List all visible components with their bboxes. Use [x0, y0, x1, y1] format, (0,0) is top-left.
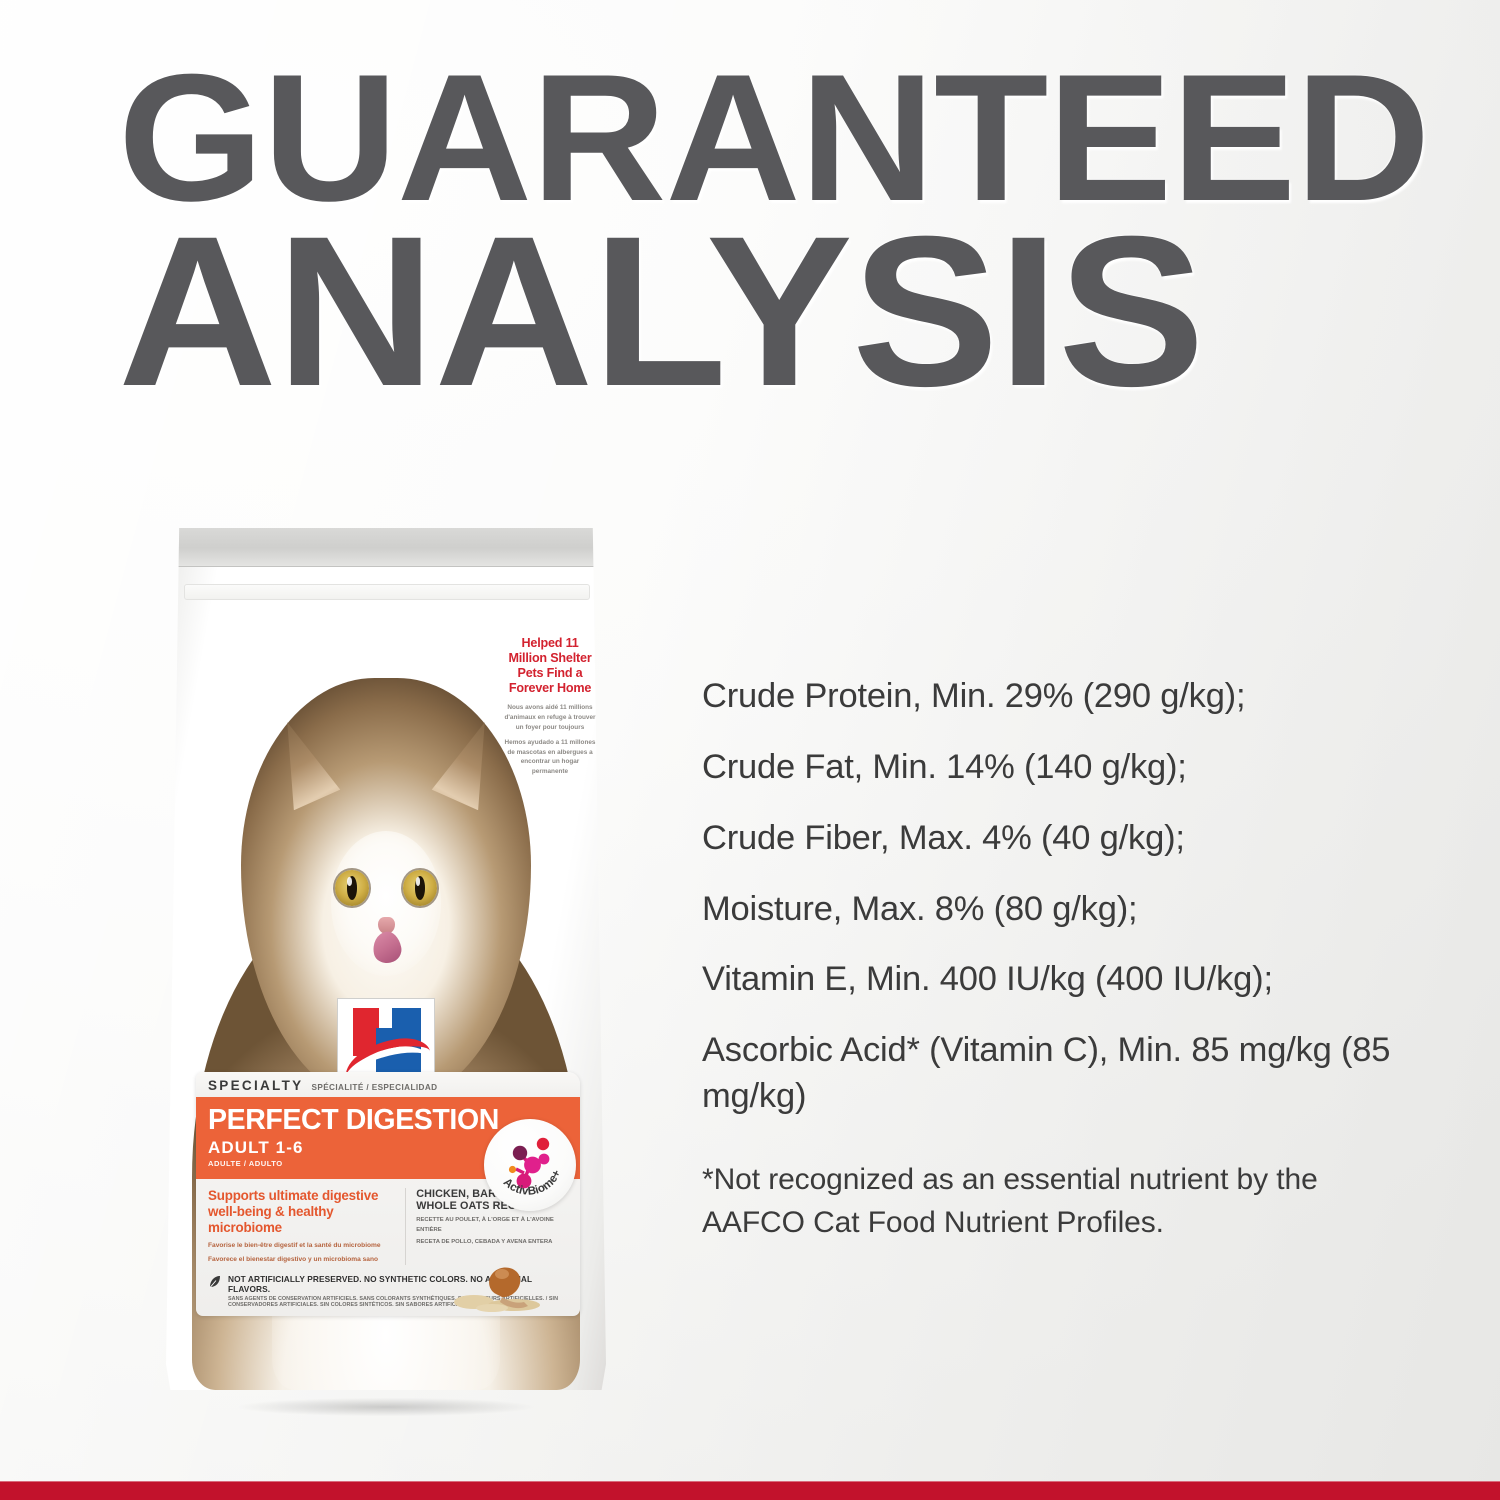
guaranteed-analysis-list: Crude Protein, Min. 29% (290 g/kg); Crud… [702, 674, 1402, 1146]
package-info-panel: SPECIALTY SPÉCIALITÉ / ESPECIALIDAD PERF… [196, 1072, 580, 1316]
no-preservatives-translations: SANS AGENTS DE CONSERVATION ARTIFICIELS.… [228, 1296, 568, 1308]
benefit-english: Supports ultimate digestive well-being &… [208, 1188, 395, 1237]
cat-eye-left [335, 870, 368, 906]
no-preservatives-text: NOT ARTIFICIALLY PRESERVED. NO SYNTHETIC… [228, 1274, 568, 1308]
specialty-label: SPECIALTY [208, 1078, 303, 1093]
leaf-icon [208, 1275, 222, 1289]
cat-pupil-right [415, 876, 426, 901]
nutrient-row-crude-protein: Crude Protein, Min. 29% (290 g/kg); [702, 674, 1402, 719]
product-info-panel: GUARANTEED ANALYSIS Crude Protein, Min. … [0, 0, 1500, 1500]
shelter-callout-spanish: Hemos ayudado a 11 millones de mascotas … [504, 738, 596, 776]
no-preservatives-row: NOT ARTIFICIALLY PRESERVED. NO SYNTHETIC… [196, 1269, 580, 1316]
benefit-claim: Supports ultimate digestive well-being &… [208, 1188, 395, 1265]
shelter-callout-headline: Helped 11 Million Shelter Pets Find a Fo… [508, 636, 591, 695]
page-title-line-2: ANALYSIS [118, 222, 1457, 402]
cat-eye-right [403, 870, 436, 906]
product-name-band: PERFECT DIGESTION ADULT 1-6 ADULTE / ADU… [196, 1097, 580, 1179]
cat-ear-left [287, 717, 342, 811]
nutrient-row-ascorbic-acid: Ascorbic Acid* (Vitamin C), Min. 85 mg/k… [702, 1028, 1402, 1120]
page-title: GUARANTEED ANALYSIS [118, 62, 1418, 402]
shelter-pets-callout: Helped 11 Million Shelter Pets Find a Fo… [504, 636, 596, 777]
recipe-french: RECETTE AU POULET, À L'ORGE ET À L'AVOIN… [416, 1216, 568, 1235]
claims-divider [405, 1188, 406, 1265]
shelter-callout-french: Nous avons aidé 11 millions d'animaux en… [504, 703, 596, 732]
recipe-spanish: RECETA DE POLLO, CEBADA Y AVENA ENTERA [416, 1238, 568, 1247]
activbiome-molecule-icon: ActivBiome+ [484, 1119, 576, 1211]
nutrient-row-moisture: Moisture, Max. 8% (80 g/kg); [702, 887, 1402, 932]
benefit-spanish: Favorece el bienestar digestivo y un mic… [208, 1255, 395, 1265]
activbiome-badge: ActivBiome+ [484, 1119, 576, 1211]
product-package: Helped 11 Million Shelter Pets Find a Fo… [150, 528, 622, 1416]
specialty-tab: SPECIALTY SPÉCIALITÉ / ESPECIALIDAD [196, 1072, 580, 1097]
cat-ear-right [430, 717, 485, 811]
specialty-translations: SPÉCIALITÉ / ESPECIALIDAD [311, 1083, 437, 1092]
no-preservatives-english: NOT ARTIFICIALLY PRESERVED. NO SYNTHETIC… [228, 1274, 568, 1294]
aafco-footnote: *Not recognized as an essential nutrient… [702, 1158, 1382, 1244]
footer-accent-bar [0, 1481, 1500, 1500]
package-bag: Helped 11 Million Shelter Pets Find a Fo… [166, 528, 606, 1390]
cat-pupil-left [347, 876, 358, 901]
nutrient-row-crude-fat: Crude Fat, Min. 14% (140 g/kg); [702, 745, 1402, 790]
package-shadow [178, 1394, 594, 1420]
nutrient-row-vitamin-e: Vitamin E, Min. 400 IU/kg (400 IU/kg); [702, 957, 1402, 1002]
bag-zip-strip [166, 528, 606, 567]
benefit-french: Favorise le bien-être digestif et la san… [208, 1241, 395, 1251]
nutrient-row-crude-fiber: Crude Fiber, Max. 4% (40 g/kg); [702, 816, 1402, 861]
